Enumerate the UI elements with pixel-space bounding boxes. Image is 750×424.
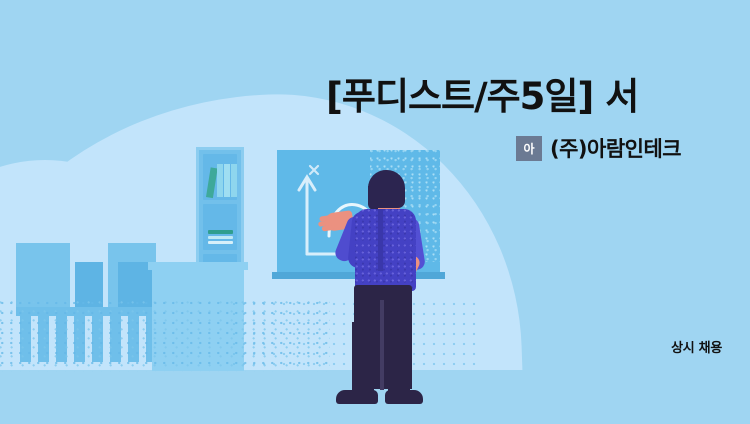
person-torso xyxy=(355,209,416,291)
book xyxy=(206,167,218,198)
finger xyxy=(322,225,335,232)
job-posting-card[interactable]: [푸디스트/주5일] 서 아 (주)아람인테크 상시 채용 xyxy=(0,0,750,424)
person-right-leg xyxy=(388,322,410,394)
bookshelf-cell xyxy=(203,154,237,200)
person-shirt-seam xyxy=(378,209,383,271)
book-stack xyxy=(208,230,233,234)
book xyxy=(224,164,230,197)
company-name: (주)아람인테크 xyxy=(550,133,681,163)
company-logo-badge: 아 xyxy=(516,136,542,161)
shirt-texture xyxy=(355,209,416,291)
job-title: [푸디스트/주5일] 서 xyxy=(326,74,750,119)
bookshelf-cell xyxy=(203,204,237,250)
person-left-leg xyxy=(352,322,374,394)
person-leg-seam xyxy=(380,300,384,390)
book-stack xyxy=(208,236,233,239)
book xyxy=(217,164,223,197)
book xyxy=(231,164,237,197)
person-right-shoe xyxy=(385,390,423,404)
company-row[interactable]: 아 (주)아람인테크 xyxy=(516,133,681,163)
book-stack xyxy=(208,241,233,244)
person-left-shoe xyxy=(336,390,378,404)
person-hair xyxy=(368,170,405,208)
hiring-status-label: 상시 채용 xyxy=(671,337,722,356)
